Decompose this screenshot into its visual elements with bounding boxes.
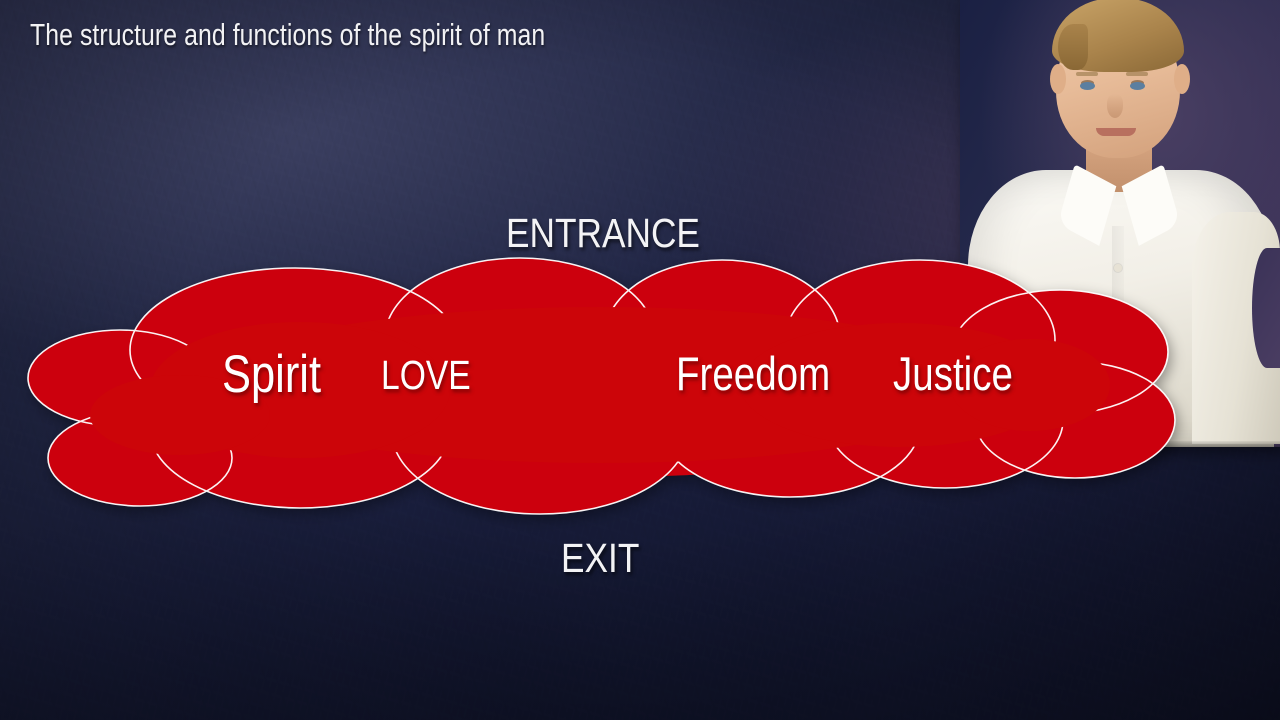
presenter-nose [1107, 94, 1123, 118]
presenter-eye-left [1080, 82, 1095, 90]
cloud-label-justice: Justice [893, 346, 1013, 401]
presenter-ear-left [1050, 64, 1066, 94]
cloud-label-spirit: Spirit [222, 344, 321, 405]
cloud-label-love: LOVE [381, 352, 471, 399]
flow-label-entrance: ENTRANCE [506, 210, 700, 257]
presenter-mouth [1096, 128, 1136, 136]
slide-title: The structure and functions of the spiri… [30, 16, 545, 55]
presenter-eyebrow-right [1126, 72, 1148, 76]
presenter-panel-shadow [960, 441, 1280, 447]
presenter-shirt-placket [1112, 226, 1124, 447]
presenter-ear-right [1174, 64, 1190, 94]
presenter-shirt-button [1114, 264, 1122, 272]
slide-canvas: The structure and functions of the spiri… [0, 0, 1280, 720]
presenter-eyebrow-left [1076, 72, 1098, 76]
presenter-eye-right [1130, 82, 1145, 90]
cloud-label-freedom: Freedom [676, 346, 830, 401]
presenter-shirt-button [1114, 370, 1122, 378]
presenter-arm-gap [1252, 248, 1280, 368]
flow-label-exit: EXIT [561, 535, 639, 582]
